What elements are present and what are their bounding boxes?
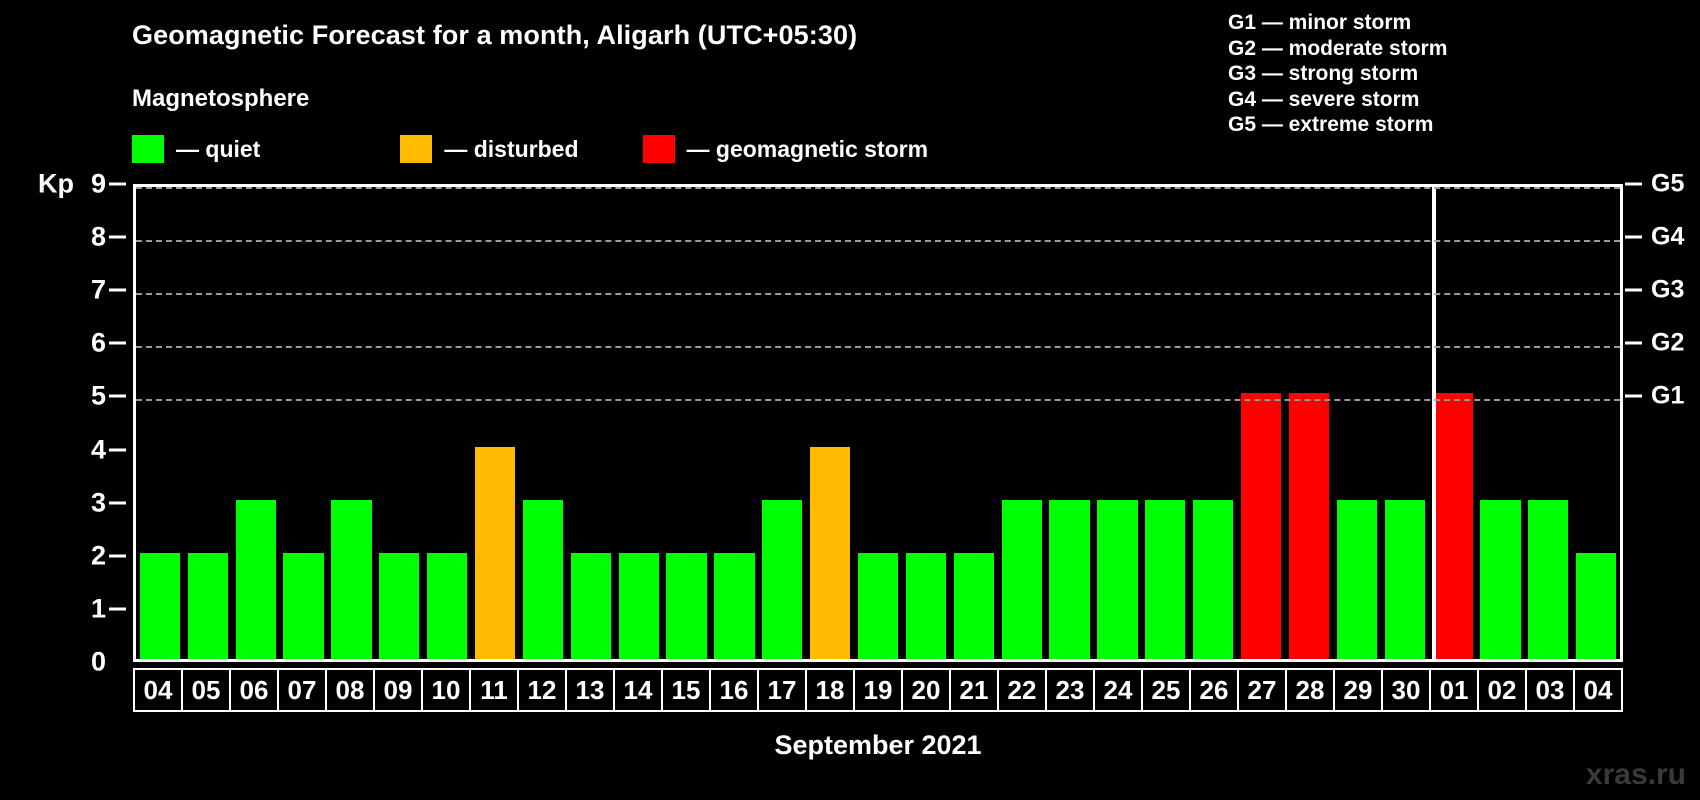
- bar-cell[interactable]: [1141, 187, 1189, 659]
- x-label-29: 29: [1333, 668, 1383, 712]
- x-label-09: 09: [373, 668, 423, 712]
- x-label-01: 01: [1429, 668, 1479, 712]
- legend-label-geomagnetic-storm: — geomagnetic storm: [687, 136, 929, 163]
- bar-23[interactable]: [1049, 500, 1089, 659]
- y-tick-mark-8: [109, 236, 126, 239]
- bar-01[interactable]: [1432, 393, 1472, 659]
- legend-item-quiet: — quiet: [132, 135, 260, 163]
- x-label-03: 03: [1525, 668, 1575, 712]
- bar-12[interactable]: [523, 500, 563, 659]
- legend-item-disturbed: — disturbed: [400, 135, 578, 163]
- bar-cell[interactable]: [1094, 187, 1142, 659]
- bar-06[interactable]: [236, 500, 276, 659]
- x-label-30: 30: [1381, 668, 1431, 712]
- color-legend: — quiet— disturbed— geomagnetic storm: [132, 134, 928, 164]
- bar-04[interactable]: [140, 553, 180, 659]
- x-label-20: 20: [901, 668, 951, 712]
- x-label-21: 21: [949, 668, 999, 712]
- x-label-12: 12: [517, 668, 567, 712]
- bar-03[interactable]: [1528, 500, 1568, 659]
- g-tick-label-G3: G3: [1651, 276, 1684, 305]
- y-tick-label-4: 4: [91, 434, 106, 465]
- g-tick-label-G2: G2: [1651, 329, 1684, 358]
- x-label-16: 16: [709, 668, 759, 712]
- watermark: xras.ru: [1586, 758, 1686, 792]
- bar-17[interactable]: [762, 500, 802, 659]
- x-label-04: 04: [1573, 668, 1623, 712]
- g-tick-mark-G3: [1625, 289, 1642, 292]
- x-label-11: 11: [469, 668, 519, 712]
- g-scale-item-2: G2 — moderate storm: [1228, 36, 1447, 62]
- bar-25[interactable]: [1145, 500, 1185, 659]
- bar-02[interactable]: [1480, 500, 1520, 659]
- bar-cell[interactable]: [758, 187, 806, 659]
- bar-cell[interactable]: [998, 187, 1046, 659]
- legend-item-geomagnetic-storm: — geomagnetic storm: [643, 135, 929, 163]
- y-tick-label-7: 7: [91, 275, 106, 306]
- y-tick-mark-3: [109, 501, 126, 504]
- x-label-25: 25: [1141, 668, 1191, 712]
- y-tick-mark-9: [109, 183, 126, 186]
- bar-16[interactable]: [714, 553, 754, 659]
- x-label-27: 27: [1237, 668, 1287, 712]
- x-axis-title: September 2021: [133, 730, 1623, 761]
- bar-22[interactable]: [1002, 500, 1042, 659]
- bar-30[interactable]: [1385, 500, 1425, 659]
- legend-label-quiet: — quiet: [176, 136, 260, 163]
- y-tick-mark-6: [109, 342, 126, 345]
- legend-swatch-disturbed: [400, 135, 432, 163]
- x-label-19: 19: [853, 668, 903, 712]
- bar-cell[interactable]: [567, 187, 615, 659]
- x-label-14: 14: [613, 668, 663, 712]
- x-label-22: 22: [997, 668, 1047, 712]
- y-axis: 9876543210: [0, 184, 128, 662]
- bar-05[interactable]: [188, 553, 228, 659]
- bar-cell[interactable]: [902, 187, 950, 659]
- bar-07[interactable]: [283, 553, 323, 659]
- x-label-18: 18: [805, 668, 855, 712]
- bar-cell[interactable]: [136, 187, 184, 659]
- y-tick-mark-7: [109, 289, 126, 292]
- g-scale-item-1: G1 — minor storm: [1228, 10, 1447, 36]
- y-tick-mark-5: [109, 395, 126, 398]
- bar-04[interactable]: [1576, 553, 1616, 659]
- bar-26[interactable]: [1193, 500, 1233, 659]
- bar-cell[interactable]: [806, 187, 854, 659]
- bar-cell[interactable]: [615, 187, 663, 659]
- bar-cell[interactable]: [1237, 187, 1285, 659]
- gridline-kp-5: [136, 399, 1620, 401]
- x-label-23: 23: [1045, 668, 1095, 712]
- bar-08[interactable]: [331, 500, 371, 659]
- y-tick-mark-1: [109, 607, 126, 610]
- bar-cell[interactable]: [519, 187, 567, 659]
- magnetosphere-label: Magnetosphere: [132, 85, 309, 113]
- x-label-17: 17: [757, 668, 807, 712]
- bar-20[interactable]: [906, 553, 946, 659]
- month-divider-line: [1432, 187, 1436, 659]
- legend-swatch-geomagnetic-storm: [643, 135, 675, 163]
- legend-label-disturbed: — disturbed: [444, 136, 578, 163]
- x-label-07: 07: [277, 668, 327, 712]
- bar-19[interactable]: [858, 553, 898, 659]
- bar-10[interactable]: [427, 553, 467, 659]
- bar-cell[interactable]: [1477, 187, 1525, 659]
- bar-21[interactable]: [954, 553, 994, 659]
- chart-plot-area: [133, 184, 1623, 662]
- gridline-kp-9: [136, 187, 1620, 189]
- bar-cell[interactable]: [663, 187, 711, 659]
- bar-11[interactable]: [475, 447, 515, 659]
- y-tick-label-8: 8: [91, 222, 106, 253]
- bar-cell[interactable]: [1333, 187, 1381, 659]
- g-scale-item-4: G4 — severe storm: [1228, 87, 1447, 113]
- bar-28[interactable]: [1289, 393, 1329, 659]
- bar-cell[interactable]: [1572, 187, 1620, 659]
- g-axis: G5G4G3G2G1: [1623, 184, 1700, 662]
- x-label-24: 24: [1093, 668, 1143, 712]
- g-tick-mark-G4: [1625, 236, 1642, 239]
- bar-cell[interactable]: [280, 187, 328, 659]
- gridline-kp-6: [136, 346, 1620, 348]
- bar-cell[interactable]: [1046, 187, 1094, 659]
- bar-series: [136, 187, 1620, 659]
- y-tick-mark-4: [109, 448, 126, 451]
- bar-cell[interactable]: [1285, 187, 1333, 659]
- x-axis-day-labels: 0405060708091011121314151617181920212223…: [133, 668, 1623, 712]
- bar-24[interactable]: [1097, 500, 1137, 659]
- bar-cell[interactable]: [1381, 187, 1429, 659]
- bar-18[interactable]: [810, 447, 850, 659]
- x-label-26: 26: [1189, 668, 1239, 712]
- bar-cell[interactable]: [375, 187, 423, 659]
- bar-27[interactable]: [1241, 393, 1281, 659]
- y-tick-mark-2: [109, 554, 126, 557]
- bar-cell[interactable]: [950, 187, 998, 659]
- x-label-05: 05: [181, 668, 231, 712]
- bar-cell[interactable]: [328, 187, 376, 659]
- bar-cell[interactable]: [471, 187, 519, 659]
- g-scale-legend: G1 — minor stormG2 — moderate stormG3 — …: [1228, 10, 1447, 138]
- y-tick-label-3: 3: [91, 487, 106, 518]
- x-label-10: 10: [421, 668, 471, 712]
- bar-13[interactable]: [571, 553, 611, 659]
- x-label-08: 08: [325, 668, 375, 712]
- g-tick-mark-G5: [1625, 183, 1642, 186]
- bar-29[interactable]: [1337, 500, 1377, 659]
- bar-cell[interactable]: [1189, 187, 1237, 659]
- g-tick-label-G5: G5: [1651, 170, 1684, 199]
- gridline-kp-7: [136, 293, 1620, 295]
- bar-cell[interactable]: [184, 187, 232, 659]
- g-tick-label-G1: G1: [1651, 382, 1684, 411]
- g-tick-mark-G2: [1625, 342, 1642, 345]
- y-tick-label-2: 2: [91, 540, 106, 571]
- x-label-13: 13: [565, 668, 615, 712]
- x-label-02: 02: [1477, 668, 1527, 712]
- y-axis-title: Kp: [38, 169, 74, 200]
- y-tick-label-6: 6: [91, 328, 106, 359]
- y-tick-label-0: 0: [91, 647, 106, 678]
- bar-09[interactable]: [379, 553, 419, 659]
- y-tick-label-5: 5: [91, 381, 106, 412]
- x-label-28: 28: [1285, 668, 1335, 712]
- y-tick-label-1: 1: [91, 593, 106, 624]
- g-scale-item-5: G5 — extreme storm: [1228, 112, 1447, 138]
- bar-cell[interactable]: [1429, 187, 1477, 659]
- y-tick-label-9: 9: [91, 169, 106, 200]
- bar-cell[interactable]: [711, 187, 759, 659]
- bar-cell[interactable]: [854, 187, 902, 659]
- x-label-06: 06: [229, 668, 279, 712]
- bar-cell[interactable]: [1524, 187, 1572, 659]
- bar-15[interactable]: [666, 553, 706, 659]
- gridline-kp-8: [136, 240, 1620, 242]
- bar-cell[interactable]: [423, 187, 471, 659]
- x-label-04: 04: [133, 668, 183, 712]
- bar-14[interactable]: [619, 553, 659, 659]
- legend-swatch-quiet: [132, 135, 164, 163]
- g-tick-label-G4: G4: [1651, 223, 1684, 252]
- g-tick-mark-G1: [1625, 395, 1642, 398]
- g-scale-item-3: G3 — strong storm: [1228, 61, 1447, 87]
- bar-cell[interactable]: [232, 187, 280, 659]
- page-title: Geomagnetic Forecast for a month, Aligar…: [132, 20, 857, 51]
- x-label-15: 15: [661, 668, 711, 712]
